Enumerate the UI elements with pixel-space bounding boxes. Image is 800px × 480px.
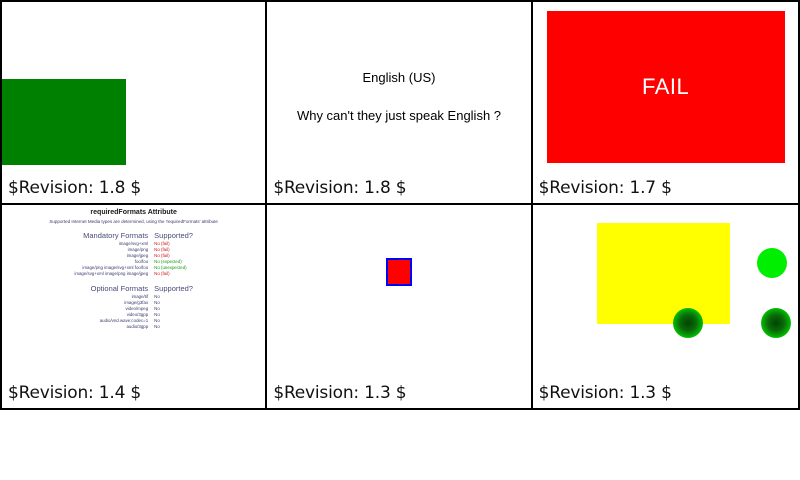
status-badge: FAIL: [642, 74, 689, 100]
test-cell-radial-gradient[interactable]: $Revision: 1.3 $: [533, 205, 798, 408]
optional-rows: image/tifNoimage/g3faxNovideo/mpegNovide…: [71, 294, 196, 330]
test-thumbnail-grid: $Revision: 1.8 $ English (US) Why can't …: [0, 0, 800, 410]
test-stage-green-rect: [2, 2, 265, 169]
revision-label: $Revision: 1.3 $: [539, 383, 672, 403]
test-stage-fail-block: FAIL: [533, 2, 798, 169]
spacer-cell: [71, 277, 151, 284]
circle-top-right: [757, 248, 787, 278]
section-gap: Optional Formats Supported?: [71, 277, 196, 294]
column-header-supported: Supported?: [151, 231, 196, 241]
test-cell-fail-block[interactable]: FAIL $Revision: 1.7 $: [533, 2, 798, 205]
test-cell-green-rect[interactable]: $Revision: 1.8 $: [2, 2, 267, 205]
revision-label: $Revision: 1.3 $: [273, 383, 406, 403]
circle-bottom-left: [673, 308, 703, 338]
language-phrase: Why can't they just speak English ?: [267, 108, 530, 123]
test-stage-system-language: English (US) Why can't they just speak E…: [267, 2, 530, 169]
spacer-cell: [151, 277, 196, 284]
format-cell: audio/3gpp: [71, 324, 151, 330]
yellow-rectangle-shape: [597, 223, 730, 324]
revision-label: $Revision: 1.8 $: [8, 178, 141, 198]
required-formats-table: Mandatory Formats Supported? image/svg+x…: [71, 231, 196, 330]
column-header-supported-optional: Supported?: [151, 284, 196, 294]
column-header-optional-formats: Optional Formats: [71, 284, 151, 294]
column-header-mandatory-formats: Mandatory Formats: [71, 231, 151, 241]
spacer-row: [71, 277, 196, 284]
revision-label: $Revision: 1.4 $: [8, 383, 141, 403]
test-stage-required-formats: requiredFormats Attribute Supported Inte…: [2, 205, 265, 374]
green-rectangle-shape: [2, 79, 126, 165]
mandatory-rows: image/svg+xmlNo (fail)image/pngNo (fail)…: [71, 241, 196, 277]
test-cell-system-language[interactable]: English (US) Why can't they just speak E…: [267, 2, 532, 205]
table-header-row-optional: Optional Formats Supported?: [71, 284, 196, 294]
circle-bottom-right: [761, 308, 791, 338]
test-cell-required-formats[interactable]: requiredFormats Attribute Supported Inte…: [2, 205, 267, 408]
test-stage-red-square: [267, 205, 530, 374]
fail-rectangle-shape: FAIL: [547, 11, 785, 163]
required-formats-subtitle: Supported Internet Media types are deter…: [2, 219, 265, 224]
table-header-row: Mandatory Formats Supported?: [71, 231, 196, 241]
test-cell-red-square[interactable]: $Revision: 1.3 $: [267, 205, 532, 408]
required-formats-title: requiredFormats Attribute: [2, 209, 265, 216]
format-cell: image/svg+xml image/png image/jpeg: [71, 271, 151, 277]
revision-label: $Revision: 1.8 $: [273, 178, 406, 198]
supported-cell: No: [151, 324, 196, 330]
revision-label: $Revision: 1.7 $: [539, 178, 672, 198]
table-head: Mandatory Formats Supported?: [71, 231, 196, 241]
test-stage-radial-gradient: [533, 205, 798, 374]
red-square-shape: [386, 258, 412, 286]
language-label: English (US): [267, 70, 530, 85]
table-row: audio/3gppNo: [71, 324, 196, 330]
